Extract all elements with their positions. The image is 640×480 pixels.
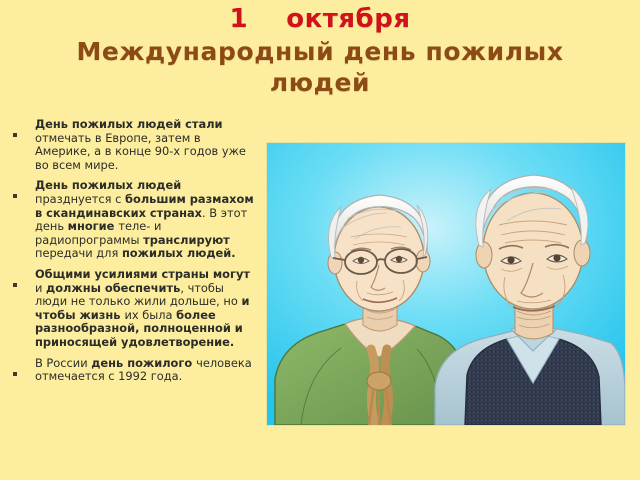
list-item: День пожилых людей стали отмечать в Евро… bbox=[13, 118, 255, 172]
slide-canvas: 1 октября Международный день пожилых люд… bbox=[0, 0, 640, 480]
square-bullet-icon bbox=[13, 118, 35, 142]
bullet-text: В России день пожилого человека отмечает… bbox=[35, 357, 255, 384]
square-bullet-icon bbox=[13, 268, 35, 292]
title-date-line: 1 октября bbox=[0, 4, 640, 34]
list-item: Общими усилиями страны могут и должны об… bbox=[13, 268, 255, 350]
list-item: День пожилых людей празднуется с большим… bbox=[13, 179, 255, 261]
bullet-text: День пожилых людей стали отмечать в Евро… bbox=[35, 118, 255, 172]
title-block: 1 октября Международный день пожилых люд… bbox=[0, 4, 640, 98]
illustration-svg bbox=[267, 143, 625, 425]
elderly-couple-illustration bbox=[267, 143, 625, 425]
bullet-text: Общими усилиями страны могут и должны об… bbox=[35, 268, 255, 350]
square-bullet-icon bbox=[13, 357, 35, 381]
square-bullet-icon bbox=[13, 179, 35, 203]
bullet-text: День пожилых людей празднуется с большим… bbox=[35, 179, 255, 261]
list-item: В России день пожилого человека отмечает… bbox=[13, 357, 255, 384]
bullet-list: День пожилых людей стали отмечать в Евро… bbox=[13, 118, 255, 391]
title-main-line: Международный день пожилых людей bbox=[0, 34, 640, 98]
